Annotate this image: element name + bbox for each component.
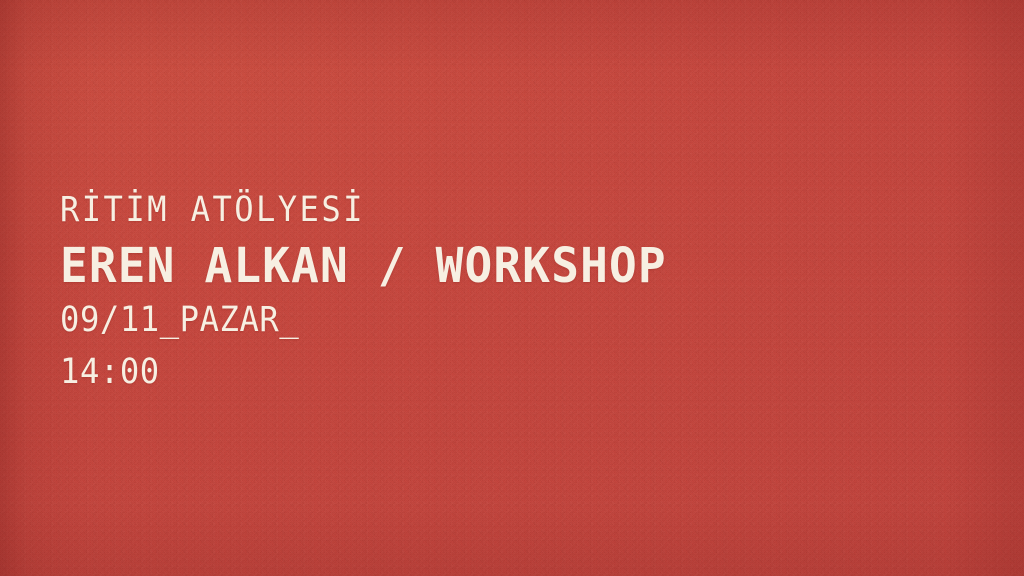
poster-text-block: RİTİM ATÖLYESİ EREN ALKAN / WORKSHOP 09/…	[60, 193, 692, 390]
event-poster: RİTİM ATÖLYESİ EREN ALKAN / WORKSHOP 09/…	[0, 0, 1024, 576]
poster-kicker: RİTİM ATÖLYESİ	[60, 193, 642, 228]
poster-date: 09/11_PAZAR_	[60, 303, 642, 338]
poster-title: EREN ALKAN / WORKSHOP	[60, 242, 667, 290]
poster-time: 14:00	[60, 355, 642, 390]
